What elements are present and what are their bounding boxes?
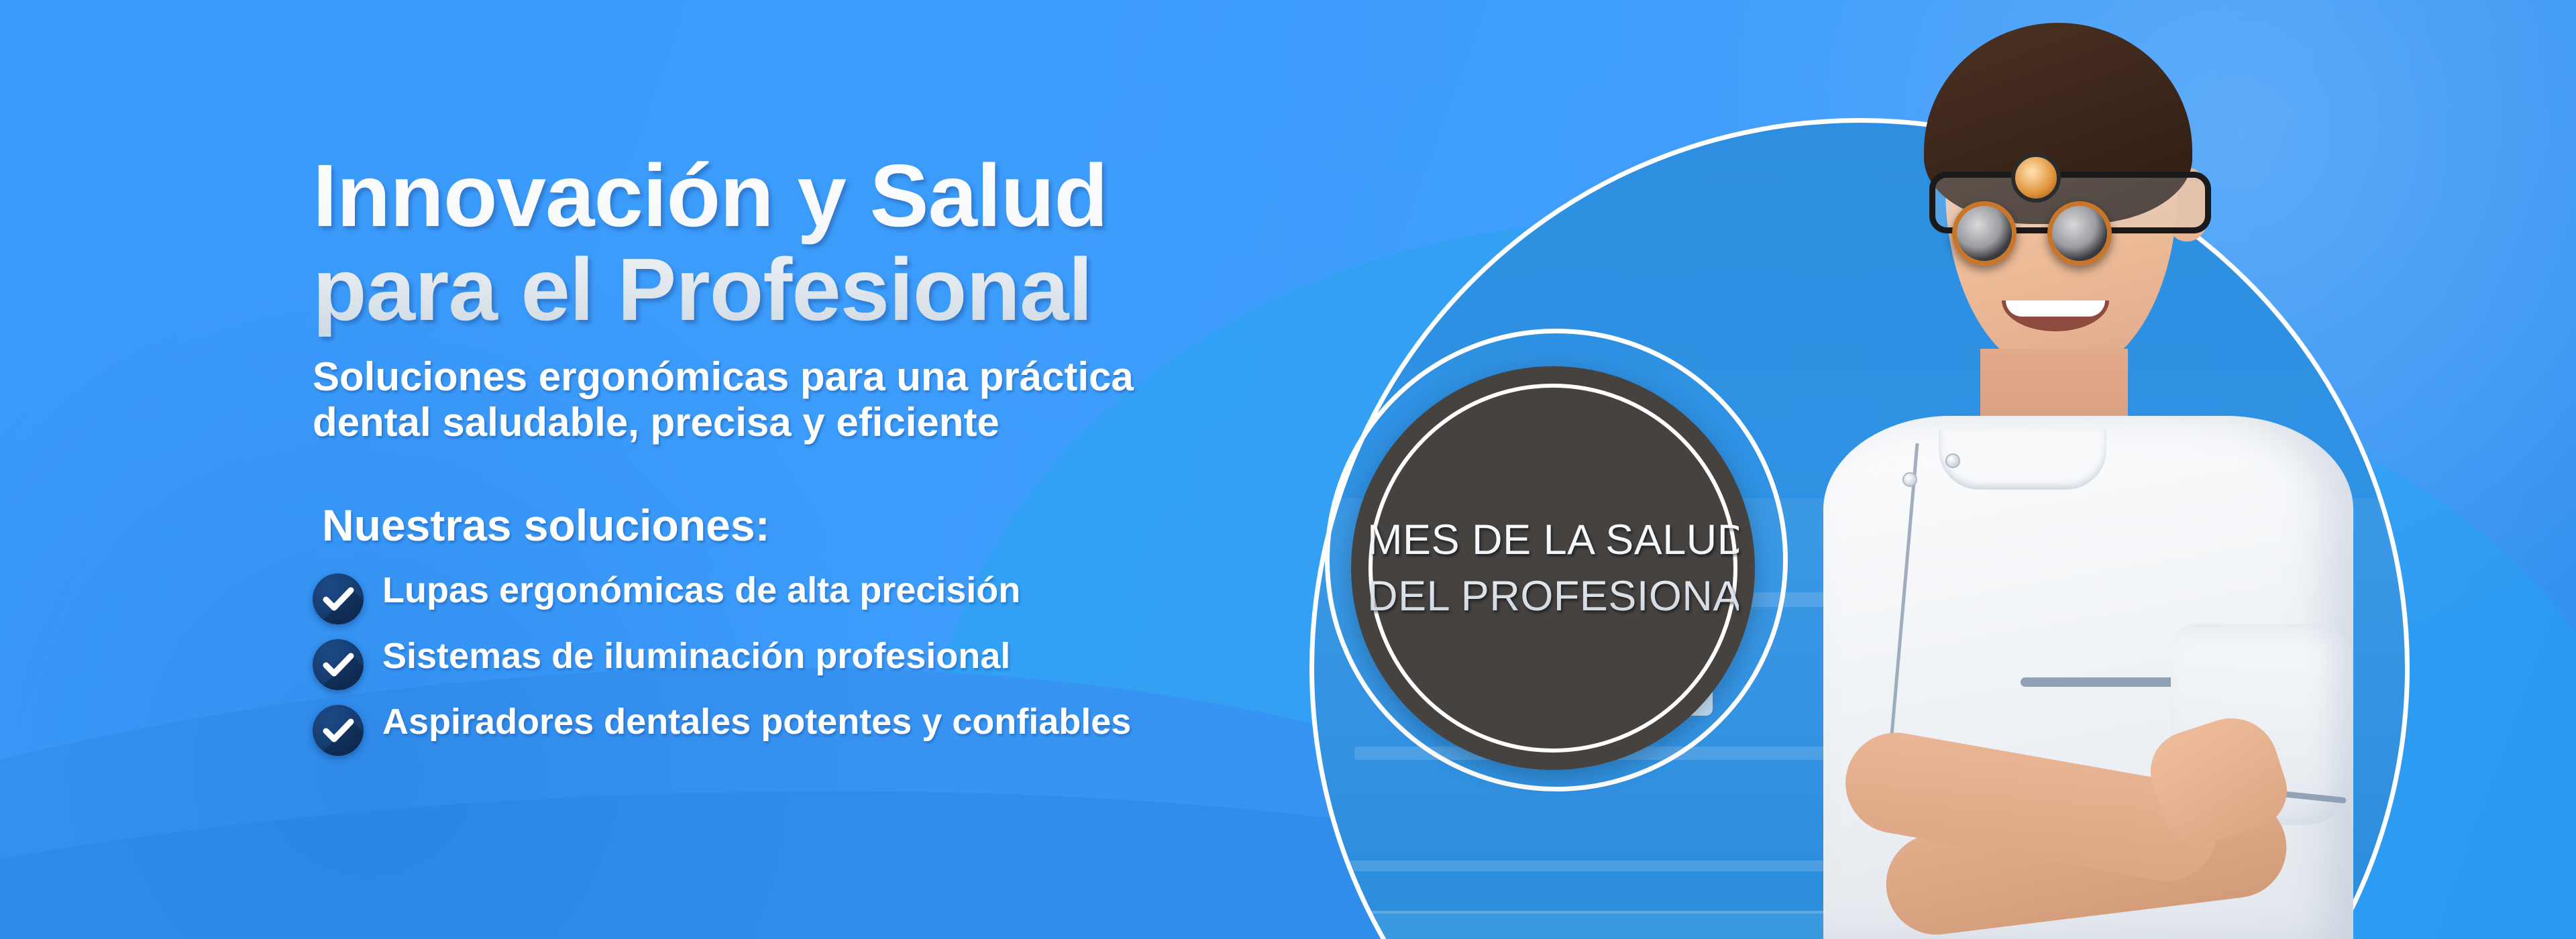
- tunic-collar: [1939, 429, 2106, 490]
- list-item-label: Aspiradores dentales potentes y confiabl…: [382, 700, 1131, 744]
- badge-line-2: DEL PROFESIONAL: [1367, 568, 1739, 624]
- subheadline-line-1: Soluciones ergonómicas para una práctica: [313, 354, 1332, 400]
- list-item: Lupas ergonómicas de alta precisión: [313, 568, 1332, 624]
- solutions-list-title: Nuestras soluciones:: [322, 500, 1332, 551]
- list-item-label: Lupas ergonómicas de alta precisión: [382, 568, 1020, 613]
- solutions-list: Lupas ergonómicas de alta precisión Sist…: [313, 568, 1332, 756]
- banner-content: Innovación y Salud para el Profesional S…: [313, 149, 1332, 765]
- campaign-badge: MES DE LA SALUD DEL PROFESIONAL: [1351, 366, 1755, 770]
- tunic-snap-button: [1902, 472, 1917, 487]
- headline: Innovación y Salud para el Profesional: [313, 149, 1332, 337]
- dental-loupe-right-icon: [2047, 201, 2112, 266]
- check-circle-icon: [313, 573, 364, 624]
- list-item: Sistemas de iluminación profesional: [313, 634, 1332, 690]
- headline-line-1: Innovación y Salud: [313, 149, 1332, 243]
- check-circle-icon: [313, 639, 364, 690]
- badge-line-1: MES DE LA SALUD: [1367, 512, 1739, 568]
- dental-loupe-left-icon: [1952, 201, 2017, 266]
- headline-line-2: para el Profesional: [313, 243, 1332, 337]
- badge-text: MES DE LA SALUD DEL PROFESIONAL: [1367, 512, 1739, 625]
- teeth: [2006, 300, 2105, 317]
- subheadline-line-2: dental saludable, precisa y eficiente: [313, 400, 1332, 445]
- subheadline: Soluciones ergonómicas para una práctica…: [313, 354, 1332, 445]
- promo-banner: MES DE LA SALUD DEL PROFESIONAL Innovaci…: [0, 0, 2576, 939]
- list-item-label: Sistemas de iluminación profesional: [382, 634, 1010, 679]
- list-item: Aspiradores dentales potentes y confiabl…: [313, 700, 1332, 756]
- tunic-snap-button: [1945, 453, 1960, 468]
- check-circle-icon: [313, 705, 364, 756]
- loupe-headlight-icon: [2011, 153, 2061, 203]
- dentist-photo: [1744, 0, 2415, 939]
